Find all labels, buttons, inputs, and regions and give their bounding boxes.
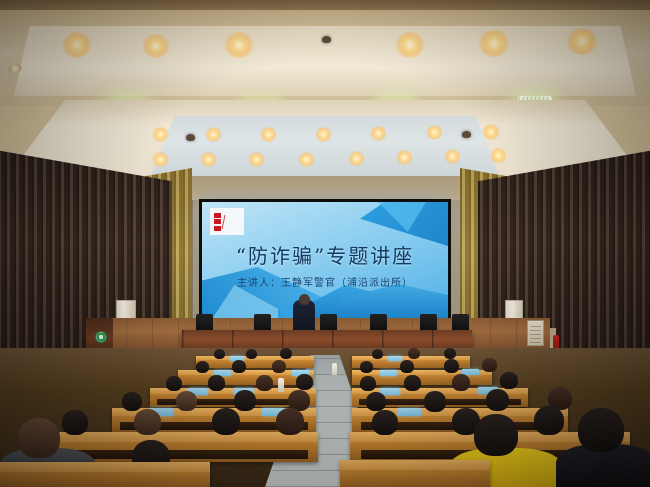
- audience-head: [272, 360, 286, 373]
- downlight-icon: [396, 150, 413, 165]
- downlight-icon: [260, 127, 277, 142]
- audience-head: [400, 360, 414, 373]
- audience-head: [176, 391, 197, 411]
- open-laptop-icon: [388, 356, 402, 361]
- audience-head: [366, 392, 386, 411]
- open-laptop-icon: [380, 370, 397, 376]
- audience-head: [372, 349, 383, 359]
- downlight-icon: [566, 28, 598, 55]
- audience-head: [280, 348, 292, 359]
- desk-row: [56, 432, 318, 462]
- slide-subtitle: 主讲人：王静军警官（浦沿派出所）: [202, 274, 448, 289]
- presenter-head: [299, 294, 310, 305]
- water-bottle-icon: [278, 378, 284, 392]
- audience-head: [134, 409, 161, 435]
- audience-head: [212, 408, 240, 435]
- ceiling-speaker-icon: [462, 131, 471, 138]
- open-laptop-icon: [398, 408, 421, 416]
- downlight-icon: [200, 152, 217, 167]
- audience-head: [534, 406, 564, 435]
- audience-head: [234, 390, 256, 411]
- stage-chair: [320, 314, 337, 330]
- projection-screen: “防诈骗”专题讲座 主讲人：王静军警官（浦沿派出所）: [199, 199, 451, 322]
- notice-board: [527, 320, 544, 346]
- ceiling-speaker-icon: [186, 134, 195, 141]
- stage-chair: [196, 314, 213, 330]
- downlight-icon: [444, 149, 461, 164]
- stage-chair: [254, 314, 271, 330]
- audience-head: [444, 348, 456, 359]
- downlight-icon: [142, 34, 170, 58]
- audience-head: [424, 391, 446, 412]
- lecture-hall-photo: “防诈骗”专题讲座 主讲人：王静军警官（浦沿派出所）: [0, 0, 650, 487]
- desk-row-front: [0, 462, 210, 487]
- audience-head: [452, 374, 470, 391]
- audience-head: [122, 392, 142, 411]
- logo-stroke-icon: [222, 215, 236, 229]
- stage-chair: [420, 314, 437, 330]
- audience-head: [246, 349, 257, 359]
- lectern-emblem-icon: [95, 331, 107, 343]
- desk-row-front: [340, 460, 490, 487]
- downlight-icon: [370, 126, 387, 141]
- water-bottle-icon: [332, 363, 337, 375]
- downlight-icon: [205, 127, 222, 142]
- audience-head: [214, 349, 225, 359]
- audience-head: [360, 361, 373, 373]
- stage-chair: [370, 314, 387, 330]
- downlight-icon: [482, 124, 500, 140]
- slide-title: “防诈骗”专题讲座: [202, 240, 448, 269]
- audience-head: [276, 408, 304, 435]
- audience-head: [486, 389, 509, 411]
- audience-head: [500, 372, 518, 389]
- stage-chair: [452, 314, 469, 330]
- audience-head: [166, 376, 182, 391]
- downlight-icon: [395, 32, 425, 58]
- downlight-icon: [248, 152, 265, 167]
- audience-head: [18, 418, 60, 458]
- audience-head: [196, 361, 209, 373]
- audience-head: [296, 374, 313, 390]
- downlight-icon: [490, 148, 507, 163]
- downlight-icon: [62, 32, 92, 58]
- audience-head: [372, 410, 398, 435]
- ceiling-coffer-inner-face: [150, 116, 500, 178]
- downlight-icon: [315, 127, 332, 142]
- audience-head: [232, 360, 246, 373]
- downlight-icon: [224, 32, 254, 58]
- downlight-icon: [298, 152, 315, 167]
- audience-head: [444, 359, 459, 373]
- audience-head: [208, 375, 225, 391]
- back-wall-upper-strip: [150, 176, 500, 200]
- audience-head: [404, 375, 421, 391]
- audience-head: [360, 376, 376, 391]
- ceiling-speaker-icon: [322, 36, 331, 43]
- audience-head: [62, 410, 88, 435]
- audience-head: [408, 348, 420, 359]
- audience-head: [256, 375, 273, 391]
- downlight-icon: [478, 30, 510, 57]
- downlight-icon: [152, 127, 169, 142]
- slide-canvas: “防诈骗”专题讲座 主讲人：王静军警官（浦沿派出所）: [202, 202, 448, 319]
- slide-logo: [210, 208, 244, 235]
- downlight-icon: [426, 125, 443, 140]
- logo-bars-icon: [214, 213, 221, 231]
- downlight-icon: [152, 152, 169, 167]
- downlight-icon: [348, 151, 365, 166]
- audience-head: [578, 408, 624, 452]
- audience-head: [474, 414, 518, 456]
- audience-head: [482, 358, 497, 372]
